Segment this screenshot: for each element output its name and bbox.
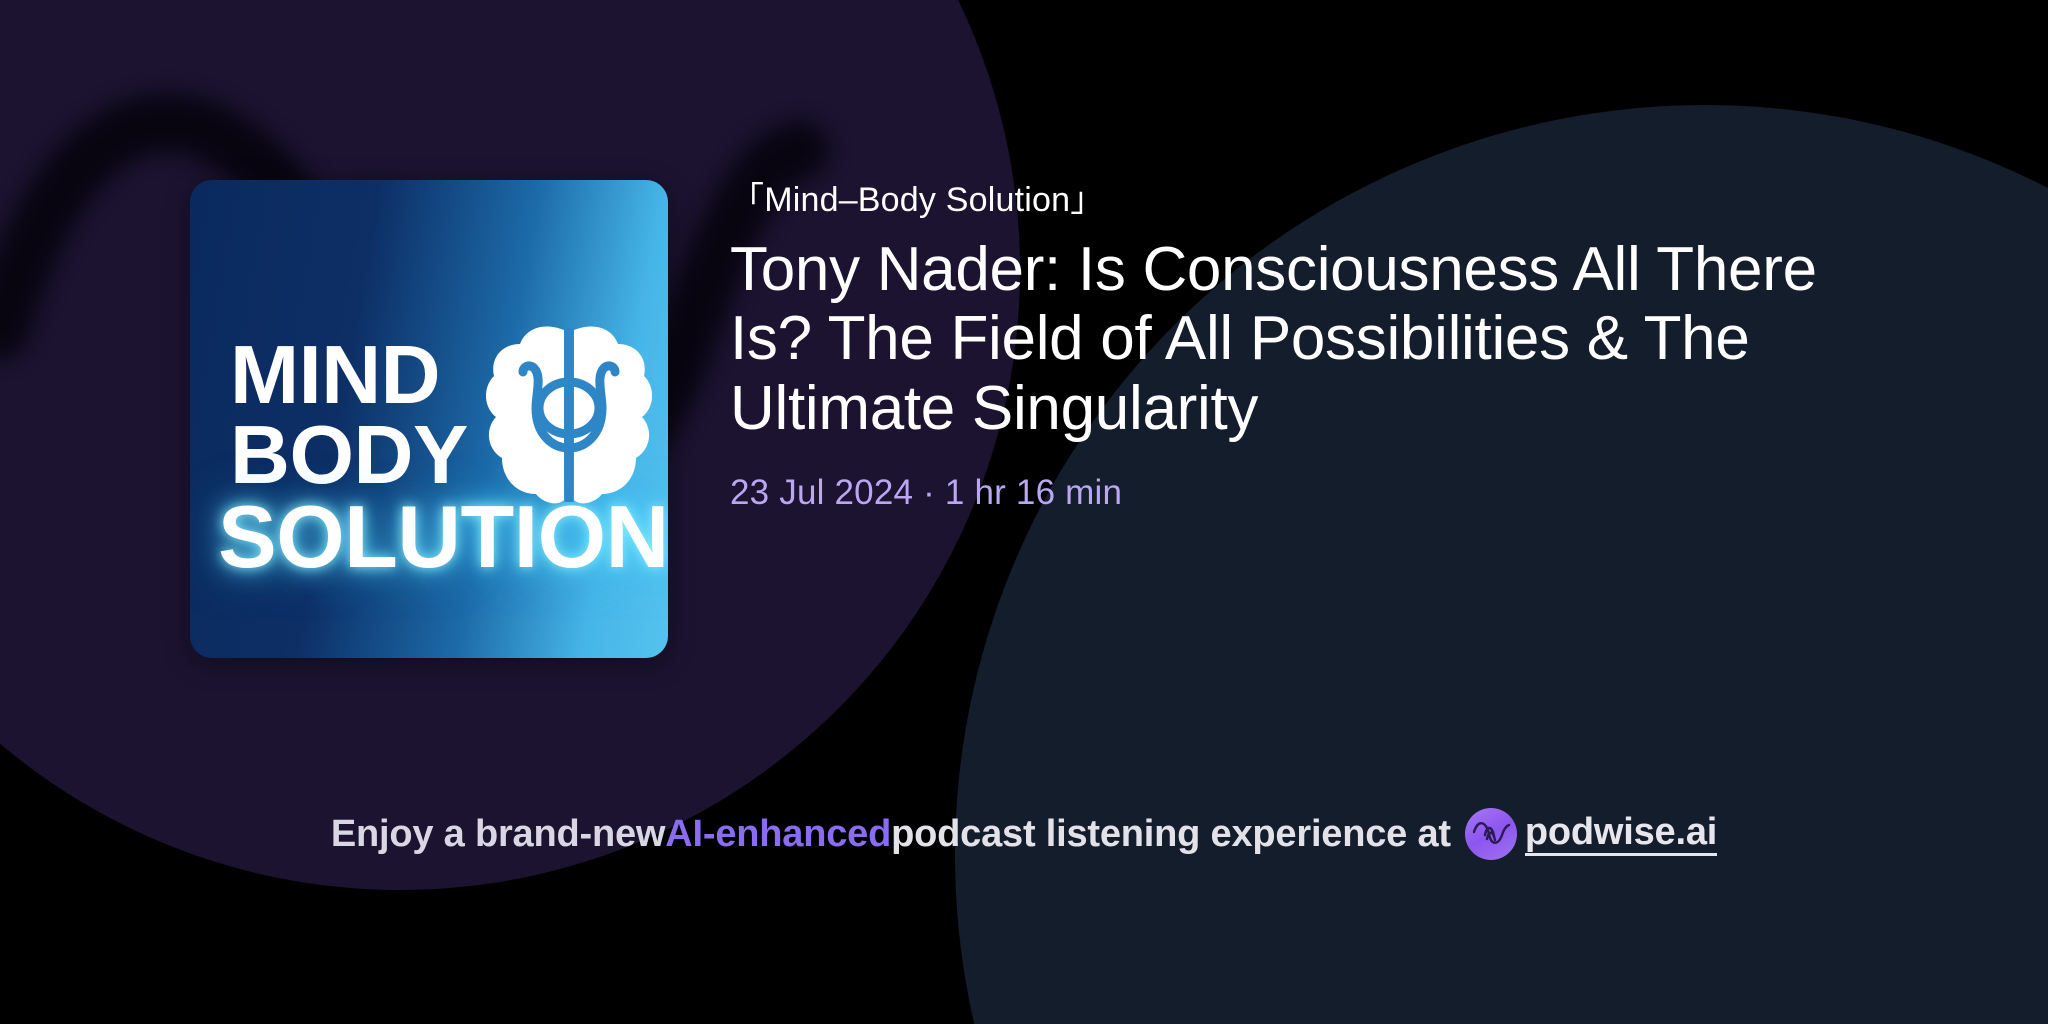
promo-footer: Enjoy a brand-new AI-enhanced podcast li… (0, 808, 2048, 860)
cover-art-inner: MIND BODY SOLUTION (190, 180, 668, 658)
card-content: MIND BODY SOLUTION (0, 0, 2048, 1024)
podwise-link[interactable]: podwise.ai (1525, 813, 1717, 856)
episode-meta: 23 Jul 2024 · 1 hr 16 min (730, 473, 1910, 513)
podcast-cover-art: MIND BODY SOLUTION (190, 180, 668, 658)
podcast-show-name: 「Mind–Body Solution」 (730, 180, 1910, 221)
promo-text-after: podcast listening experience at (891, 813, 1451, 856)
episode-text-column: 「Mind–Body Solution」 Tony Nader: Is Cons… (730, 180, 1910, 513)
podwise-logo-icon (1465, 808, 1517, 860)
episode-share-card: MIND BODY SOLUTION (0, 0, 2048, 1024)
promo-text-before: Enjoy a brand-new (331, 813, 665, 856)
brain-icon (486, 322, 652, 508)
promo-highlight: AI-enhanced (665, 813, 891, 856)
episode-title: Tony Nader: Is Consciousness All There I… (730, 235, 1850, 443)
